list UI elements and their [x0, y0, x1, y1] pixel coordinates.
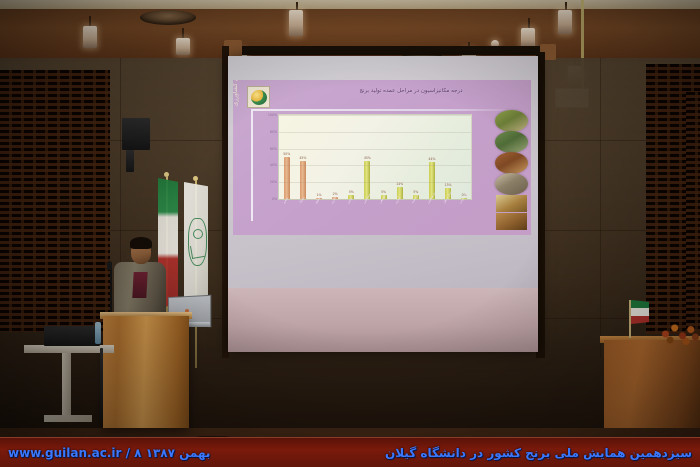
screen-lower-blank-area	[228, 288, 538, 352]
x-axis-labels: شخمدیسکتسطیحنشاکاریوجینسمپاشیکوددهیآبیار…	[278, 200, 470, 234]
rice-mill-photo	[496, 195, 527, 212]
desk-iran-flag	[631, 300, 649, 324]
bar-item: 0%	[460, 115, 468, 199]
slide-header-rule	[251, 109, 519, 111]
screen-roller-rail	[236, 46, 548, 55]
bar	[284, 157, 290, 199]
water-bottle	[95, 322, 101, 344]
bar-item: 2%	[331, 115, 339, 199]
side-table-leg-center	[62, 353, 71, 417]
bar-item: 44%	[428, 115, 436, 199]
pendant-rod-2	[182, 28, 184, 38]
ceiling-light-8	[558, 10, 572, 34]
gridline	[279, 115, 471, 116]
ceiling-light-1	[83, 26, 97, 48]
transplanter-photo	[496, 213, 527, 230]
wall-seam-v1	[600, 58, 601, 358]
slide-title: درجه مکانیزاسیون در مراحل عمده تولید برن…	[301, 88, 521, 94]
y-axis-tick: 80%	[270, 130, 277, 134]
slide-left-rule	[251, 109, 253, 221]
field-machine-photo	[495, 131, 528, 153]
acoustic-panel-far-right	[686, 92, 700, 332]
globe-icon	[251, 90, 267, 105]
bar-value-label: 50%	[283, 152, 290, 156]
pendant-rod-1	[89, 16, 91, 26]
bar-item: 5%	[380, 115, 388, 199]
y-axis-tick: 100%	[268, 113, 277, 117]
bar-value-label: 45%	[364, 156, 371, 160]
gridline	[279, 182, 471, 183]
bar-value-label: 5%	[349, 190, 354, 194]
ceiling-edge	[0, 0, 700, 9]
organization-logo	[247, 86, 270, 108]
gridline	[279, 165, 471, 166]
desk-flag-pole	[629, 300, 631, 338]
side-table-base	[44, 415, 92, 422]
bar-value-label: 44%	[428, 157, 435, 161]
lecture-hall-scene: درجه مکانیزاسیون در مراحل عمده تولید برن…	[0, 0, 700, 467]
ceiling-light-4	[289, 10, 303, 36]
av-equipment-cable	[100, 348, 103, 420]
ceiling-vent-left	[140, 10, 196, 25]
ceiling-light-2	[176, 38, 190, 55]
bar-value-label: 13%	[444, 183, 451, 187]
bar-value-label: 45%	[299, 156, 306, 160]
gridline	[279, 149, 471, 150]
thresher-photo	[495, 173, 528, 195]
presenter-shirt	[132, 272, 147, 298]
bar-item: 1%	[315, 115, 323, 199]
projector-mount	[122, 118, 150, 150]
bar-item: 5%	[412, 115, 420, 199]
y-axis-tick: 0%	[272, 197, 277, 201]
microphone-stand	[110, 268, 112, 318]
head-table	[604, 340, 700, 428]
podium	[103, 316, 189, 428]
bar-item: 14%	[396, 115, 404, 199]
microphone-head	[107, 261, 112, 270]
tractor-photo	[495, 152, 528, 174]
bar-series: 50%45%1%2%5%45%5%14%5%44%13%0%	[283, 115, 468, 199]
gridline	[279, 132, 471, 133]
projector-arm	[126, 150, 134, 172]
ceiling-light-7	[521, 28, 535, 48]
bar-item: 45%	[364, 115, 372, 199]
acoustic-panel-left	[0, 70, 110, 332]
footer-banner: www.guilan.ac.ir / ۸ بهمن ۱۳۸۷ سیزدهمین …	[0, 437, 700, 467]
harvester-photo	[495, 110, 528, 132]
bar-chart-plot-area: 50%45%1%2%5%45%5%14%5%44%13%0% 100%80%60…	[278, 114, 472, 200]
slide-side-label: مرکز توسعه مکانیزاسیون کشاورزی	[233, 80, 239, 114]
event-title-text: سیزدهمین همایش ملی برنج کشور در دانشگاه …	[385, 446, 692, 460]
pendant-rod-7	[528, 18, 530, 28]
pendant-rod-4	[296, 2, 298, 10]
university-emblem-icon	[188, 218, 207, 266]
pendant-rod-8	[565, 2, 567, 10]
website-date-text: www.guilan.ac.ir / ۸ بهمن ۱۳۸۷	[8, 446, 210, 460]
av-equipment-stack	[44, 326, 100, 346]
presenter-hair	[130, 237, 152, 249]
bar-item: 50%	[283, 115, 291, 199]
conference-photo: درجه مکانیزاسیون در مراحل عمده تولید برن…	[0, 0, 700, 467]
bar-item: 5%	[348, 115, 356, 199]
projected-slide: درجه مکانیزاسیون در مراحل عمده تولید برن…	[233, 80, 531, 235]
flower-arrangement	[654, 316, 700, 346]
y-axis-tick: 40%	[270, 163, 277, 167]
bar-item: 45%	[299, 115, 307, 199]
y-axis-tick: 60%	[270, 147, 277, 151]
bar	[300, 161, 306, 199]
bar-item: 13%	[444, 115, 452, 199]
slide-photo-strip	[495, 110, 529, 230]
y-axis-tick: 20%	[270, 180, 277, 184]
